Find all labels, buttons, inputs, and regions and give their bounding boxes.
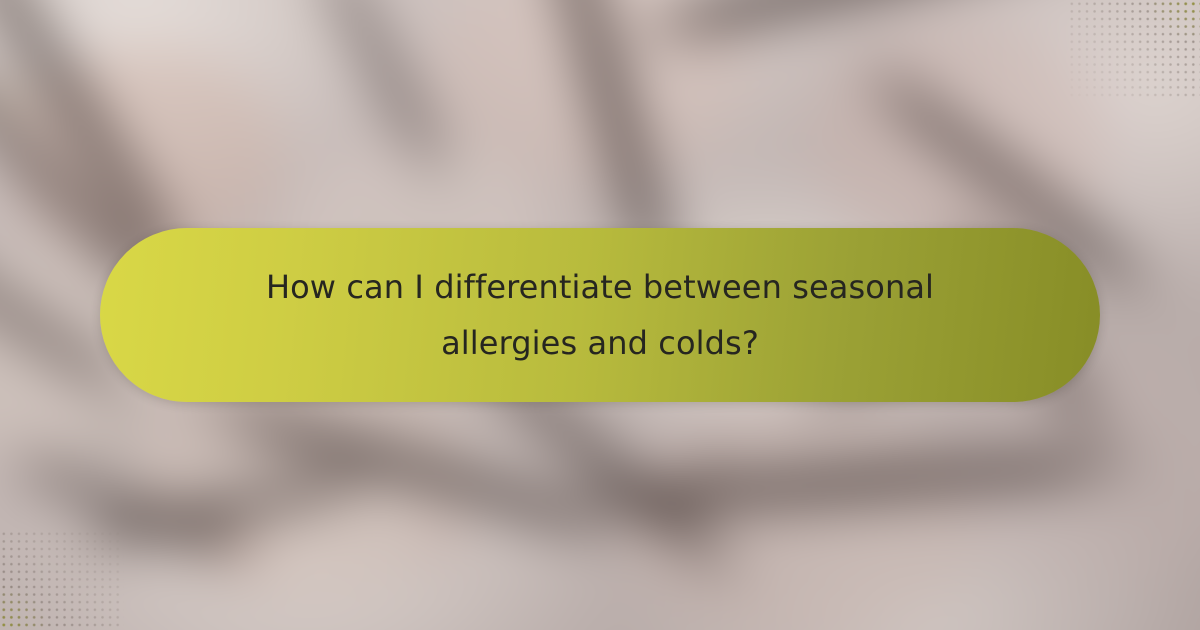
background-speck	[430, 532, 455, 547]
question-text: How can I differentiate between seasonal…	[165, 259, 1035, 371]
question-card-canvas: How can I differentiate between seasonal…	[0, 0, 1200, 630]
background-speck	[102, 426, 130, 443]
dot-grid-bottom-left-accent	[0, 530, 124, 630]
background-speck	[229, 545, 252, 560]
dot-grid-top-right-accent	[1068, 0, 1200, 98]
question-pill: How can I differentiate between seasonal…	[100, 228, 1100, 402]
background-speck	[695, 458, 725, 475]
